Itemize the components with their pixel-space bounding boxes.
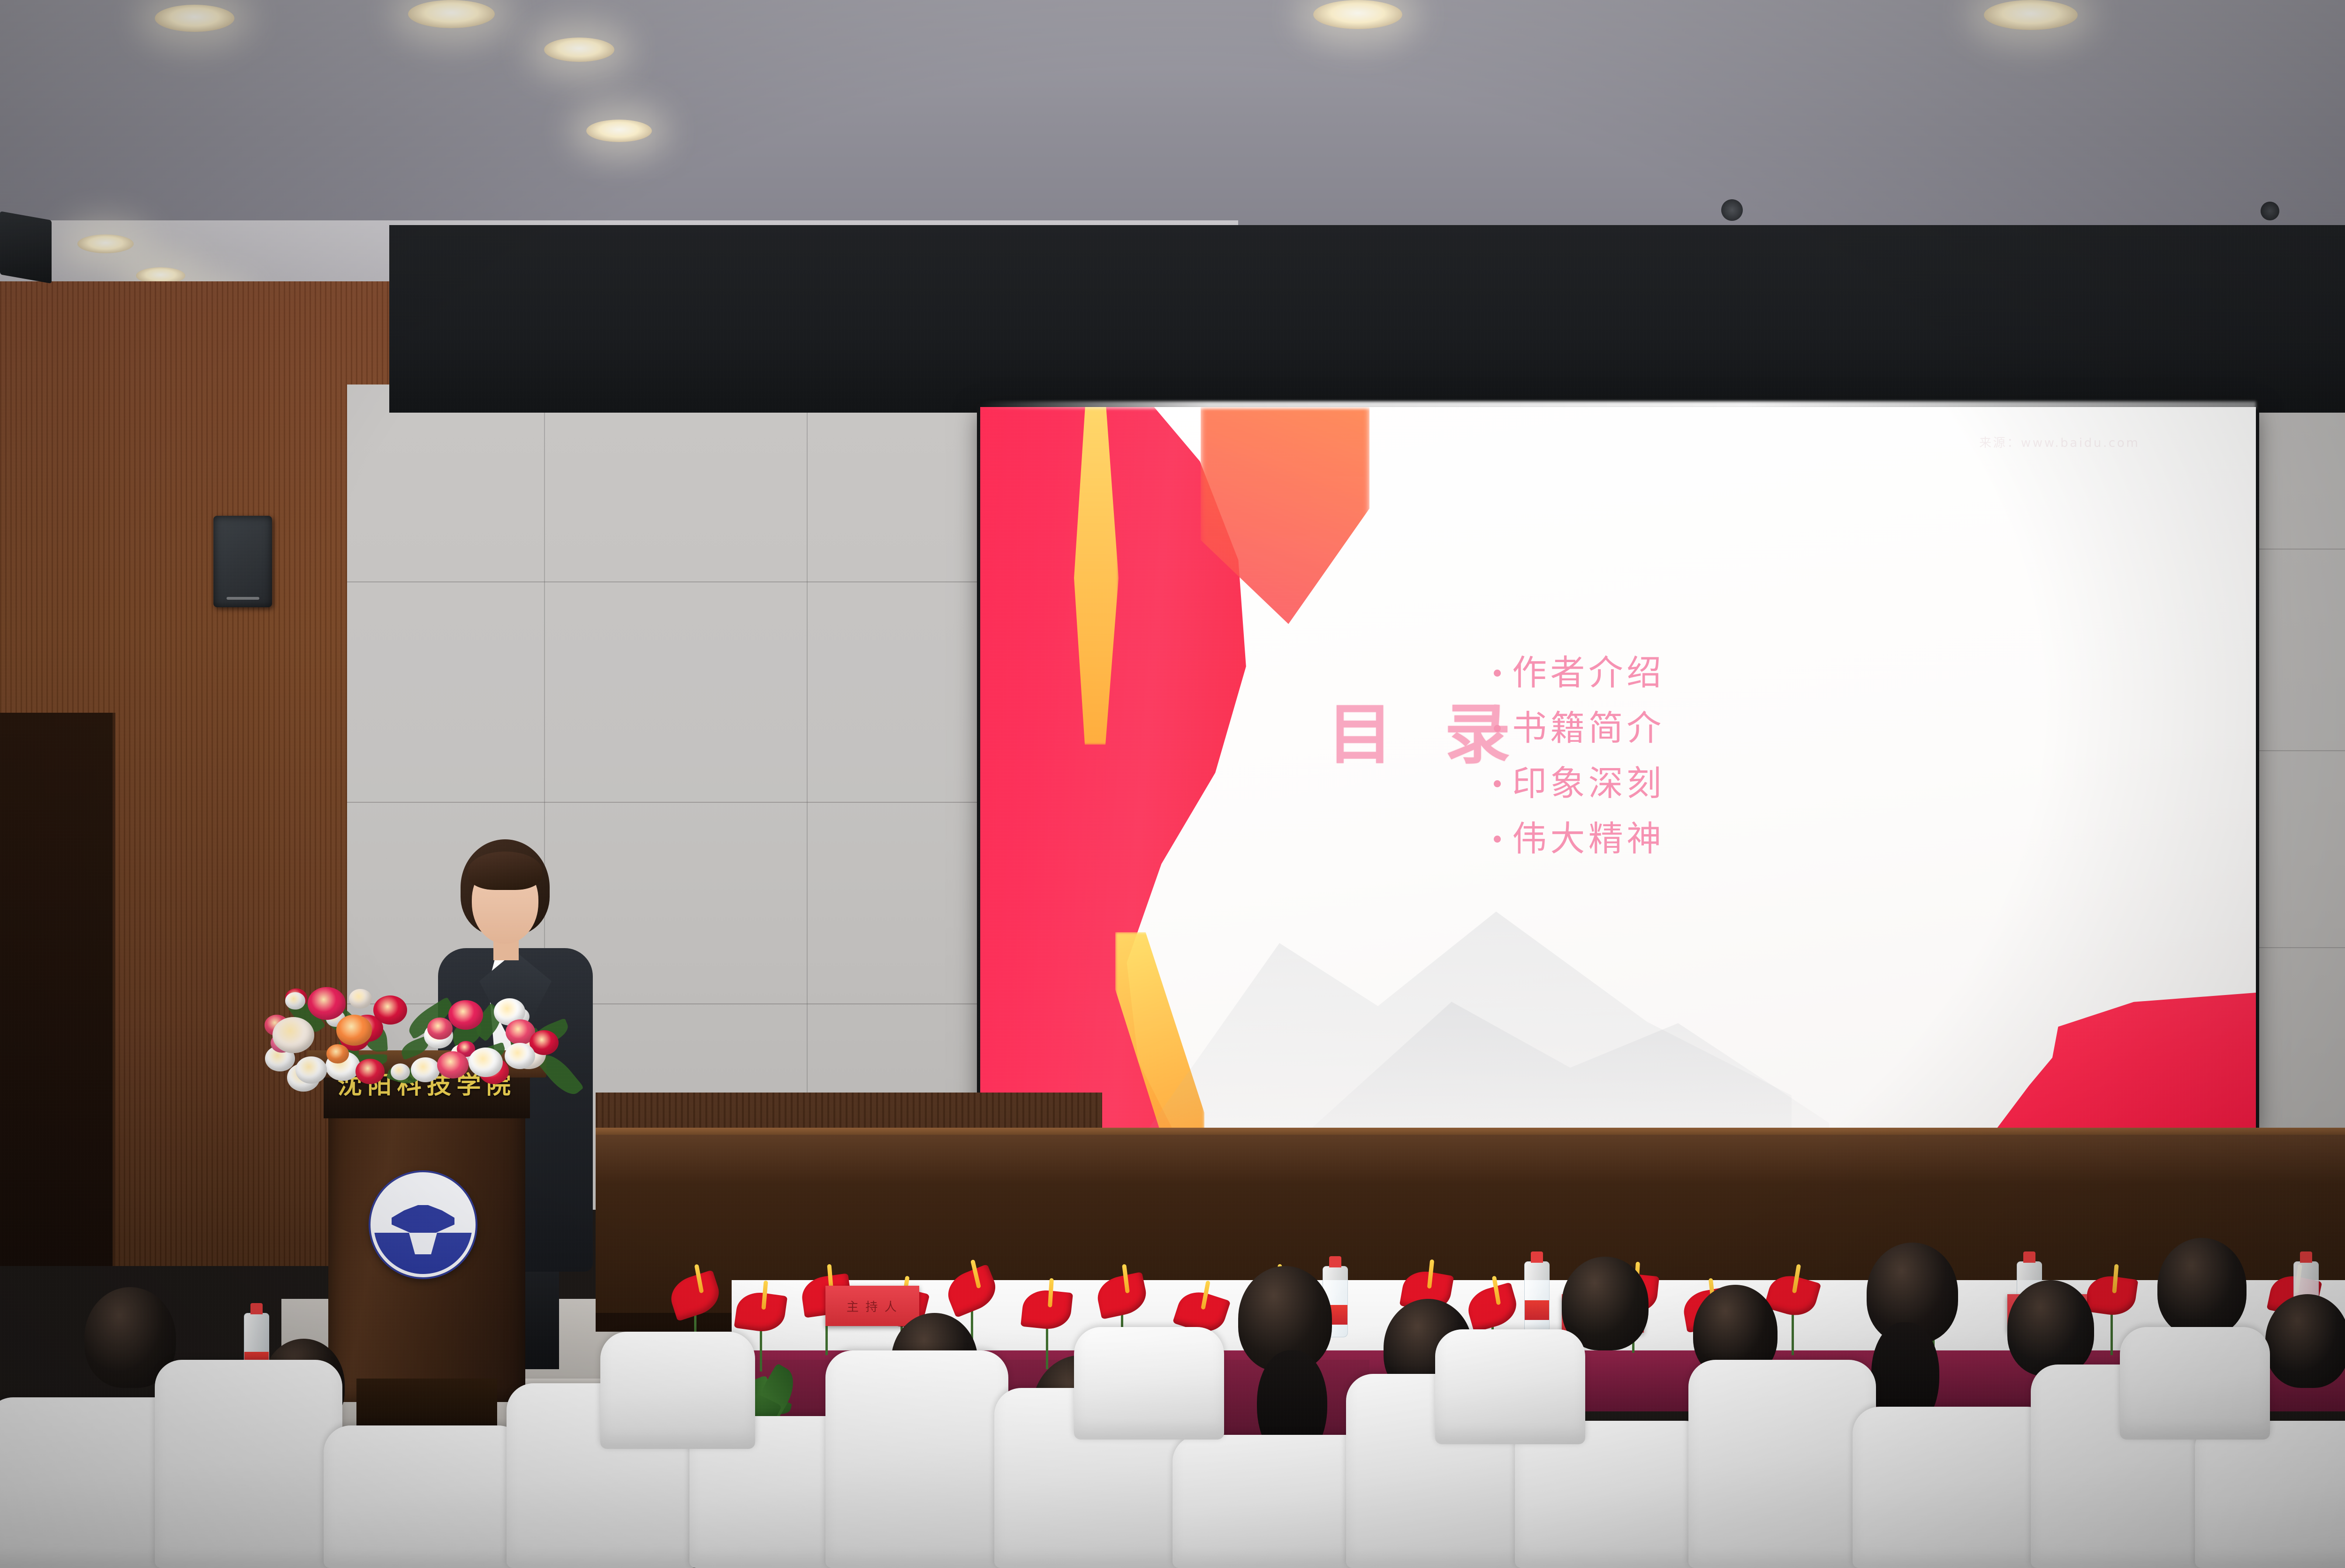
audience-chair-16	[1074, 1327, 1224, 1440]
audience-chair-11	[1688, 1360, 1876, 1568]
audience-chair-2	[155, 1360, 342, 1568]
audience-chair-3	[324, 1425, 525, 1568]
audience-chair-6	[825, 1350, 1008, 1568]
audience-chair-17	[1435, 1329, 1585, 1444]
audience-chair-15	[600, 1332, 755, 1449]
audience-head-11	[2157, 1238, 2247, 1336]
audience-chair-14	[2195, 1421, 2345, 1568]
audience-head-12	[2265, 1294, 2345, 1388]
audience-chair-18	[2120, 1327, 2270, 1440]
audience-seating	[0, 0, 2345, 1568]
audience-head-10	[2007, 1280, 2094, 1376]
audience-chair-12	[1853, 1407, 2054, 1568]
auditorium-photo: 来源：www.baidu.com 目 录 作者介绍书籍简介印象深刻伟大精神 沈阳…	[0, 0, 2345, 1568]
audience-chair-8	[1172, 1435, 1374, 1568]
